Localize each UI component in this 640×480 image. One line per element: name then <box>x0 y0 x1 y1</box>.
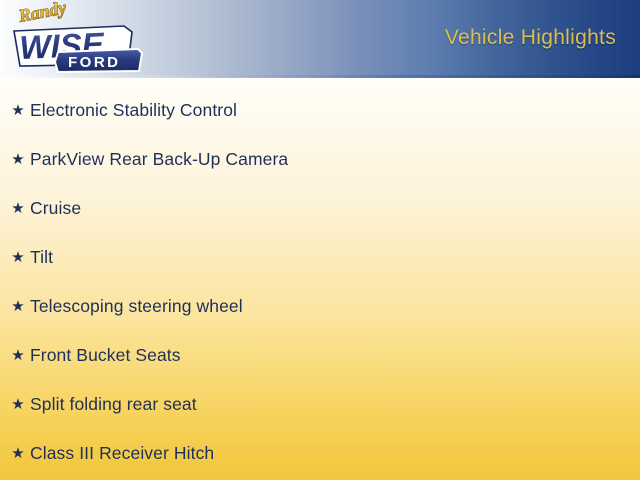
list-item[interactable]: ★ ParkView Rear Back-Up Camera <box>0 135 640 184</box>
list-item-label: Split folding rear seat <box>30 394 197 415</box>
star-bullet-icon: ★ <box>6 397 30 412</box>
list-item[interactable]: ★ Class III Receiver Hitch <box>0 429 640 478</box>
star-bullet-icon: ★ <box>6 152 30 167</box>
logo-ford-banner: FORD <box>55 49 142 72</box>
vehicle-highlights-list: ★ Electronic Stability Control ★ ParkVie… <box>0 86 640 478</box>
list-item[interactable]: ★ Electronic Stability Control <box>0 86 640 135</box>
list-item[interactable]: ★ Split folding rear seat <box>0 380 640 429</box>
dealer-logo-graphic: Randy WISE FORD <box>6 2 144 76</box>
page-header: Randy WISE FORD Vehicle Highlights <box>0 0 640 77</box>
list-item-label: ParkView Rear Back-Up Camera <box>30 149 288 170</box>
header-divider <box>0 75 640 78</box>
star-bullet-icon: ★ <box>6 299 30 314</box>
star-bullet-icon: ★ <box>6 103 30 118</box>
logo-script-randy: Randy <box>16 2 69 26</box>
list-item[interactable]: ★ Tilt <box>0 233 640 282</box>
list-item-label: Electronic Stability Control <box>30 100 237 121</box>
list-item-label: Telescoping steering wheel <box>30 296 243 317</box>
vehicle-highlights-page: Randy WISE FORD Vehicle Highlights ★ Ele <box>0 0 640 480</box>
star-bullet-icon: ★ <box>6 250 30 265</box>
list-item-label: Front Bucket Seats <box>30 345 181 366</box>
list-item-label: Cruise <box>30 198 81 219</box>
list-item-label: Tilt <box>30 247 53 268</box>
list-item[interactable]: ★ Cruise <box>0 184 640 233</box>
page-title: Vehicle Highlights <box>445 26 616 50</box>
star-bullet-icon: ★ <box>6 348 30 363</box>
logo-script-text: Randy <box>16 2 69 26</box>
dealer-logo[interactable]: Randy WISE FORD <box>6 2 144 76</box>
star-bullet-icon: ★ <box>6 201 30 216</box>
list-item[interactable]: ★ Front Bucket Seats <box>0 331 640 380</box>
list-item[interactable]: ★ Telescoping steering wheel <box>0 282 640 331</box>
logo-ford-text: FORD <box>68 54 121 71</box>
star-bullet-icon: ★ <box>6 446 30 461</box>
list-item-label: Class III Receiver Hitch <box>30 443 214 464</box>
